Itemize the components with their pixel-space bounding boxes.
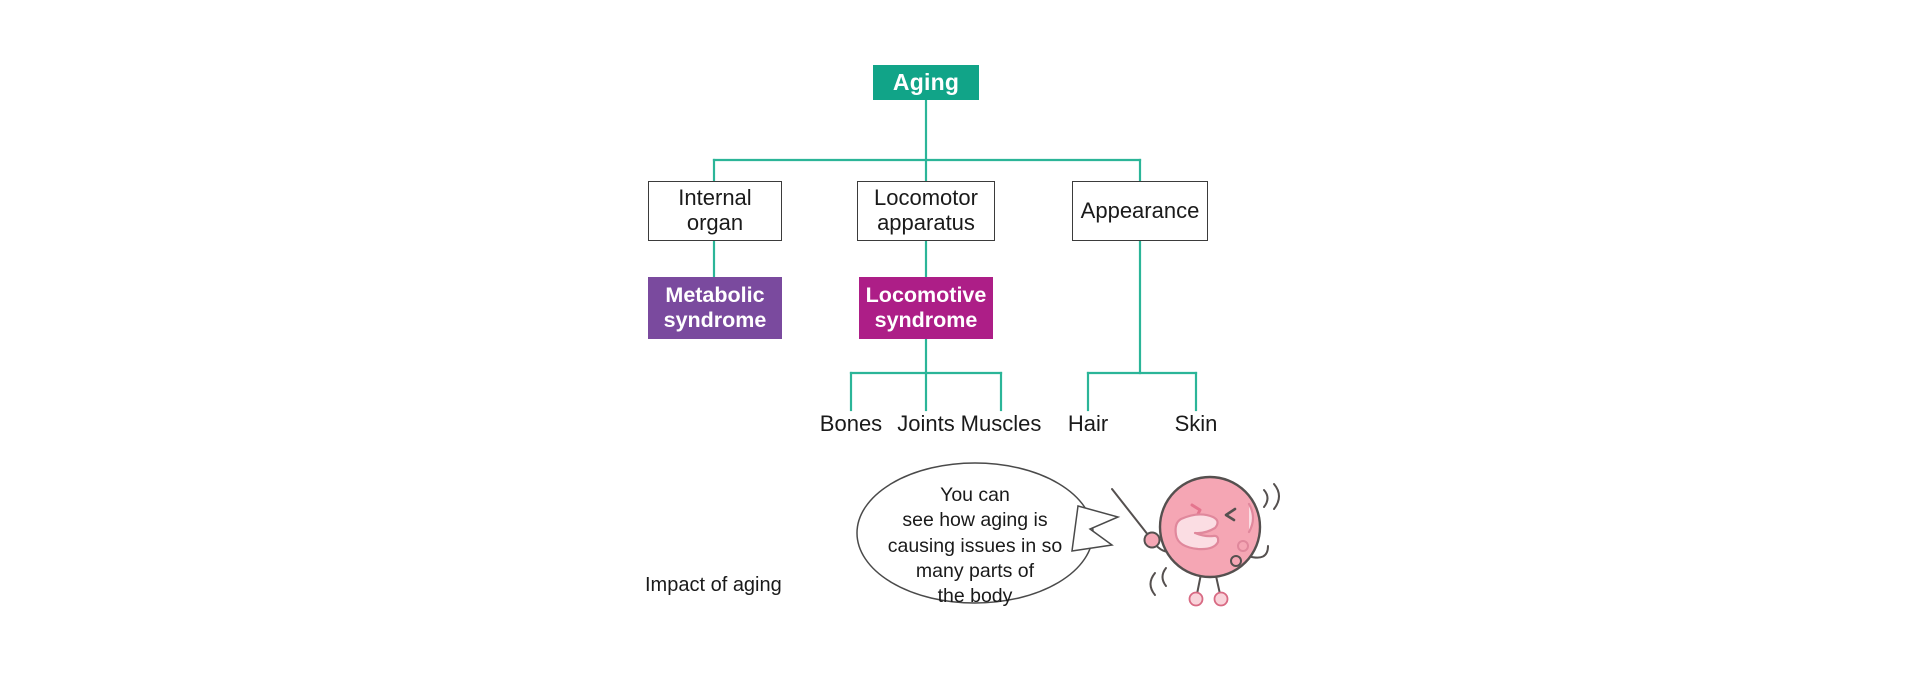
leaf-muscles-label: Muscles xyxy=(961,412,1042,437)
speech-bubble-line-4: many parts of xyxy=(860,559,1090,584)
figure-caption: Impact of aging xyxy=(645,574,782,597)
node-metabolic-syndrome[interactable]: Metabolic syndrome xyxy=(648,277,782,339)
mascot-leg-right xyxy=(1216,576,1220,594)
node-locomotive-syndrome-line2: syndrome xyxy=(866,308,987,333)
mascot-motion-lines xyxy=(1151,484,1280,595)
mascot-cheek-dot-lower xyxy=(1231,556,1241,566)
speech-bubble-line-3: causing issues in so xyxy=(860,534,1090,559)
mascot-left-arm xyxy=(1152,540,1178,552)
leaf-skin-label: Skin xyxy=(1175,412,1218,437)
node-metabolic-syndrome-line2: syndrome xyxy=(664,308,767,333)
speech-bubble-line-5: the body xyxy=(860,584,1090,609)
mascot-cheek-dot-upper xyxy=(1238,541,1248,551)
node-locomotive-syndrome-line1: Locomotive xyxy=(866,283,987,308)
node-locomotor-apparatus-line1: Locomotor xyxy=(874,186,978,211)
mascot-pointer-stick xyxy=(1112,489,1152,540)
aging-impact-diagram: Aging Internal organ Locomotor apparatus… xyxy=(0,0,1920,682)
node-aging-label: Aging xyxy=(893,70,959,96)
node-internal-organ[interactable]: Internal organ xyxy=(648,181,782,241)
leaf-bones-label: Bones xyxy=(820,412,882,437)
mascot-foot-right xyxy=(1215,593,1228,606)
mascot-eye-right xyxy=(1226,509,1235,520)
mascot-eye-left xyxy=(1192,505,1200,518)
node-appearance[interactable]: Appearance xyxy=(1072,181,1208,241)
leaf-skin[interactable]: Skin xyxy=(1148,410,1244,438)
speech-bubble-line-1: You can xyxy=(860,483,1090,508)
mascot-ear-mark xyxy=(1249,504,1253,532)
mascot-body xyxy=(1160,477,1260,577)
node-locomotive-syndrome[interactable]: Locomotive syndrome xyxy=(859,277,993,339)
mascot-right-arm xyxy=(1248,546,1268,558)
mascot-foot-left xyxy=(1190,593,1203,606)
node-locomotor-apparatus-line2: apparatus xyxy=(874,211,978,236)
mascot-figure xyxy=(1112,477,1279,606)
leaf-hair[interactable]: Hair xyxy=(1040,410,1136,438)
mascot-leg-left xyxy=(1197,574,1201,594)
node-aging-root[interactable]: Aging xyxy=(873,65,979,100)
node-locomotor-apparatus[interactable]: Locomotor apparatus xyxy=(857,181,995,241)
speech-bubble-line-2: see how aging is xyxy=(860,508,1090,533)
node-appearance-line1: Appearance xyxy=(1081,199,1200,224)
mascot-mouth xyxy=(1176,514,1219,549)
node-internal-organ-line2: organ xyxy=(678,211,751,236)
node-metabolic-syndrome-line1: Metabolic xyxy=(664,283,767,308)
leaf-hair-label: Hair xyxy=(1068,412,1108,437)
mascot-left-hand xyxy=(1145,533,1160,548)
node-internal-organ-line1: Internal xyxy=(678,186,751,211)
speech-bubble-text: You can see how aging is causing issues … xyxy=(860,483,1090,610)
